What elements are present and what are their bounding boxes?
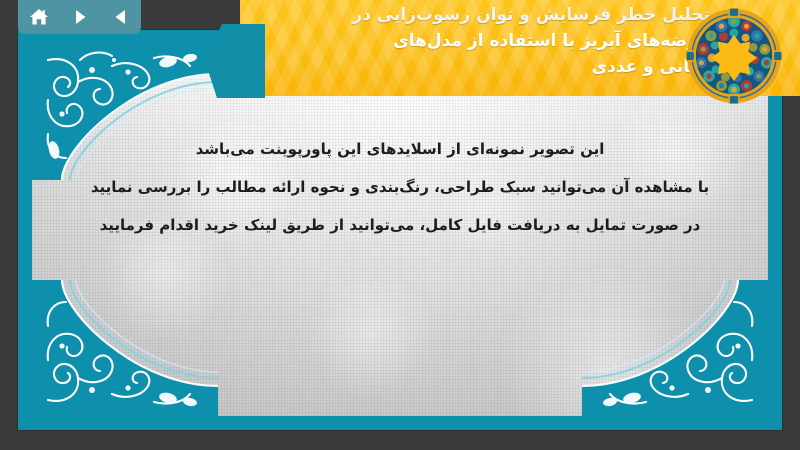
body-line-1: این تصویر نمونه‌ای از اسلایدهای این پاور… (58, 130, 742, 168)
triangle-left-icon (112, 8, 130, 26)
home-button[interactable] (23, 2, 55, 32)
slide-body-text: این تصویر نمونه‌ای از اسلایدهای این پاور… (58, 130, 742, 244)
triangle-right-icon (71, 8, 89, 26)
body-line-3: در صورت تمایل به دریافت فایل کامل، می‌تو… (58, 206, 742, 244)
title-line-3: مکانی و عددی (250, 54, 710, 80)
home-icon (29, 7, 49, 27)
title-line-2: حوضه‌های آبریز با استفاده از مدل‌های (250, 28, 710, 54)
body-line-2: با مشاهده آن می‌توانید سبک طراحی، رنگ‌بن… (58, 168, 742, 206)
title-line-1: تحلیل خطر فرسایش و توان رسوب‌زایی در (250, 2, 710, 28)
persian-medallion-ornament (686, 8, 782, 104)
navigation-bar (18, 0, 141, 34)
presentation-viewer: این تصویر نمونه‌ای از اسلایدهای این پاور… (0, 0, 800, 450)
back-button[interactable] (105, 2, 137, 32)
page-title: تحلیل خطر فرسایش و توان رسوب‌زایی در حوض… (250, 2, 710, 80)
forward-button[interactable] (64, 2, 96, 32)
